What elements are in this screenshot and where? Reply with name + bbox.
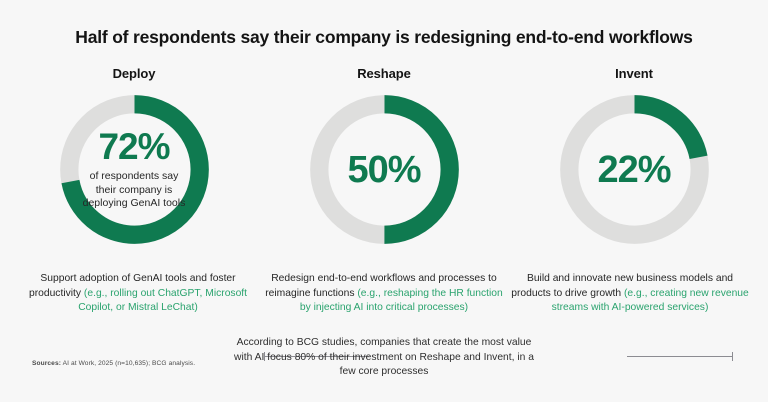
bracket-right-tick [732, 352, 733, 361]
donut-svg-invent [553, 88, 716, 251]
sources-label: Sources: [32, 360, 61, 367]
column-invent: Invent 22% [512, 66, 756, 251]
bracket-right [627, 352, 733, 361]
sources-line: Sources: AI at Work, 2025 (n=10,635); BC… [32, 360, 195, 367]
column-label-deploy: Deploy [113, 66, 156, 81]
footnote-row: According to BCG studies, companies that… [0, 336, 768, 380]
columns-container: Deploy 72% of respondents say their comp… [0, 66, 768, 251]
donut-chart-reshape: 50% [303, 88, 466, 251]
column-label-reshape: Reshape [357, 66, 411, 81]
donut-chart-invent: 22% [553, 88, 716, 251]
caption-reshape: Redesign end-to-end workflows and proces… [260, 272, 508, 316]
bracket-right-line [627, 356, 733, 357]
sources-text: AI at Work, 2025 (n=10,635); BCG analysi… [61, 360, 195, 367]
column-reshape: Reshape 50% [262, 66, 506, 251]
caption-deploy-accent: (e.g., rolling out ChatGPT, Microsoft Co… [78, 288, 247, 314]
slide: Half of respondents say their company is… [0, 0, 768, 402]
caption-deploy: Support adoption of GenAI tools and fost… [14, 272, 262, 316]
donut-svg-reshape [303, 88, 466, 251]
footnote-note: According to BCG studies, companies that… [234, 336, 534, 380]
caption-invent: Build and innovate new business models a… [506, 272, 754, 316]
donut-chart-deploy: 72% of respondents say their company is … [53, 88, 216, 251]
page-title: Half of respondents say their company is… [0, 27, 768, 48]
donut-svg-deploy [53, 88, 216, 251]
column-label-invent: Invent [615, 66, 653, 81]
column-deploy: Deploy 72% of respondents say their comp… [12, 66, 256, 251]
